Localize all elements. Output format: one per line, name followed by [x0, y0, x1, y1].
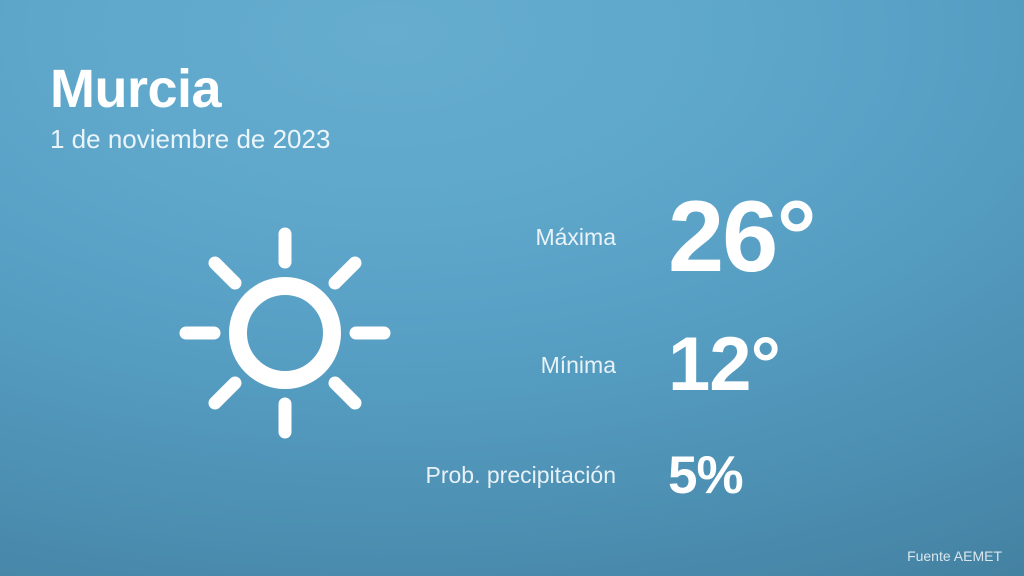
- reading-label-minima: Mínima: [400, 352, 668, 379]
- reading-label-maxima: Máxima: [400, 224, 668, 251]
- reading-row-precipitacion: Prob. precipitación 5%: [400, 425, 1000, 525]
- weather-card: Murcia 1 de noviembre de 2023 Máxima 26°: [0, 0, 1024, 576]
- reading-value-maxima: 26°: [668, 187, 815, 288]
- date-subtitle: 1 de noviembre de 2023: [50, 116, 570, 152]
- sun-clear-icon: [165, 213, 405, 453]
- source-attribution: Fuente AEMET: [907, 548, 1002, 564]
- sun-rays: [186, 234, 384, 432]
- sun-disc: [238, 286, 332, 380]
- header: Murcia 1 de noviembre de 2023: [50, 62, 570, 152]
- reading-value-minima: 12°: [668, 327, 780, 403]
- reading-row-maxima: Máxima 26°: [400, 170, 1000, 305]
- reading-value-precipitacion: 5%: [668, 449, 743, 502]
- reading-row-minima: Mínima 12°: [400, 305, 1000, 425]
- reading-label-precipitacion: Prob. precipitación: [400, 462, 668, 489]
- page-title: Murcia: [50, 62, 570, 116]
- readings-list: Máxima 26° Mínima 12° Prob. precipitació…: [400, 170, 1000, 525]
- sun-clear-icon-svg: [165, 213, 405, 453]
